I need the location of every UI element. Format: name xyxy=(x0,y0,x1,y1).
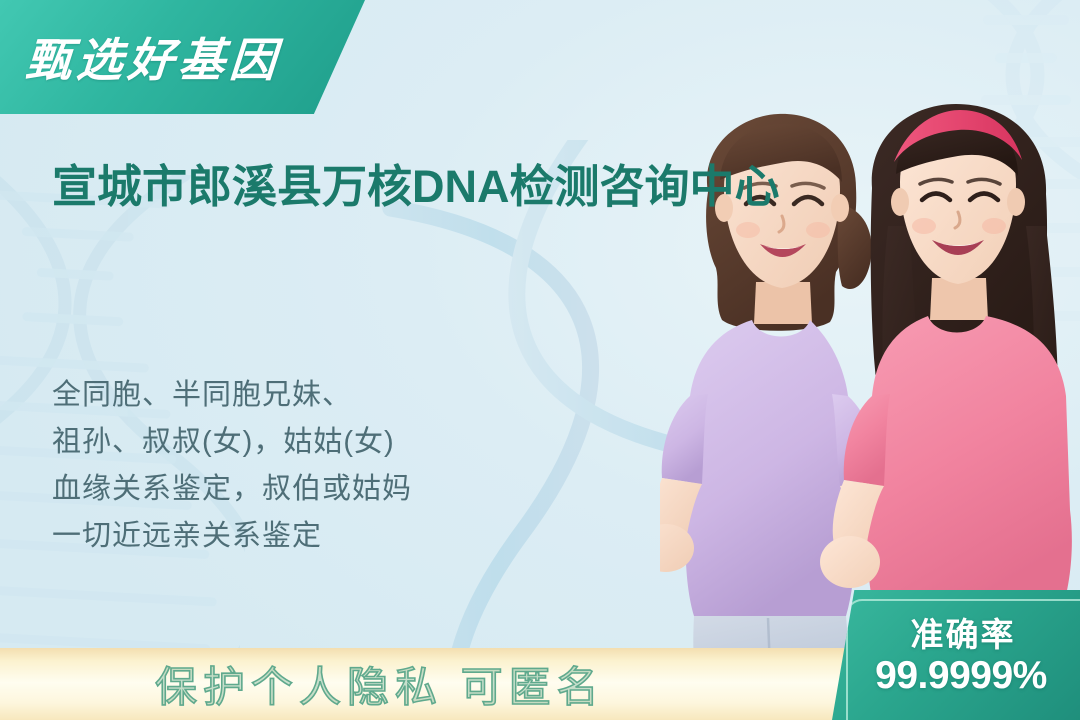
brand-banner-text: 甄选好基因 xyxy=(24,24,284,90)
privacy-slogan: 保护个人隐私 可匿名 xyxy=(155,654,605,715)
accuracy-badge: 准确率 99.9999% xyxy=(832,590,1080,720)
service-line-2: 祖孙、叔叔(女)，姑姑(女) xyxy=(52,419,412,466)
accuracy-badge-title: 准确率 xyxy=(832,608,1080,656)
service-description: 全同胞、半同胞兄妹、 祖孙、叔叔(女)，姑姑(女) 血缘关系鉴定，叔伯或姑妈 一… xyxy=(52,372,412,560)
service-line-4: 一切近远亲关系鉴定 xyxy=(52,513,412,560)
page-title: 宣城市郎溪县万核DNA检测咨询中心 xyxy=(52,160,822,213)
accuracy-badge-value: 99.9999% xyxy=(832,654,1080,698)
brand-banner: 甄选好基因 xyxy=(0,0,365,114)
service-line-3: 血缘关系鉴定，叔伯或姑妈 xyxy=(52,466,412,513)
poster-canvas: 甄选好基因 宣城市郎溪县万核DNA检测咨询中心 全同胞、半同胞兄妹、 祖孙、叔叔… xyxy=(0,0,1080,720)
service-line-1: 全同胞、半同胞兄妹、 xyxy=(52,372,412,419)
